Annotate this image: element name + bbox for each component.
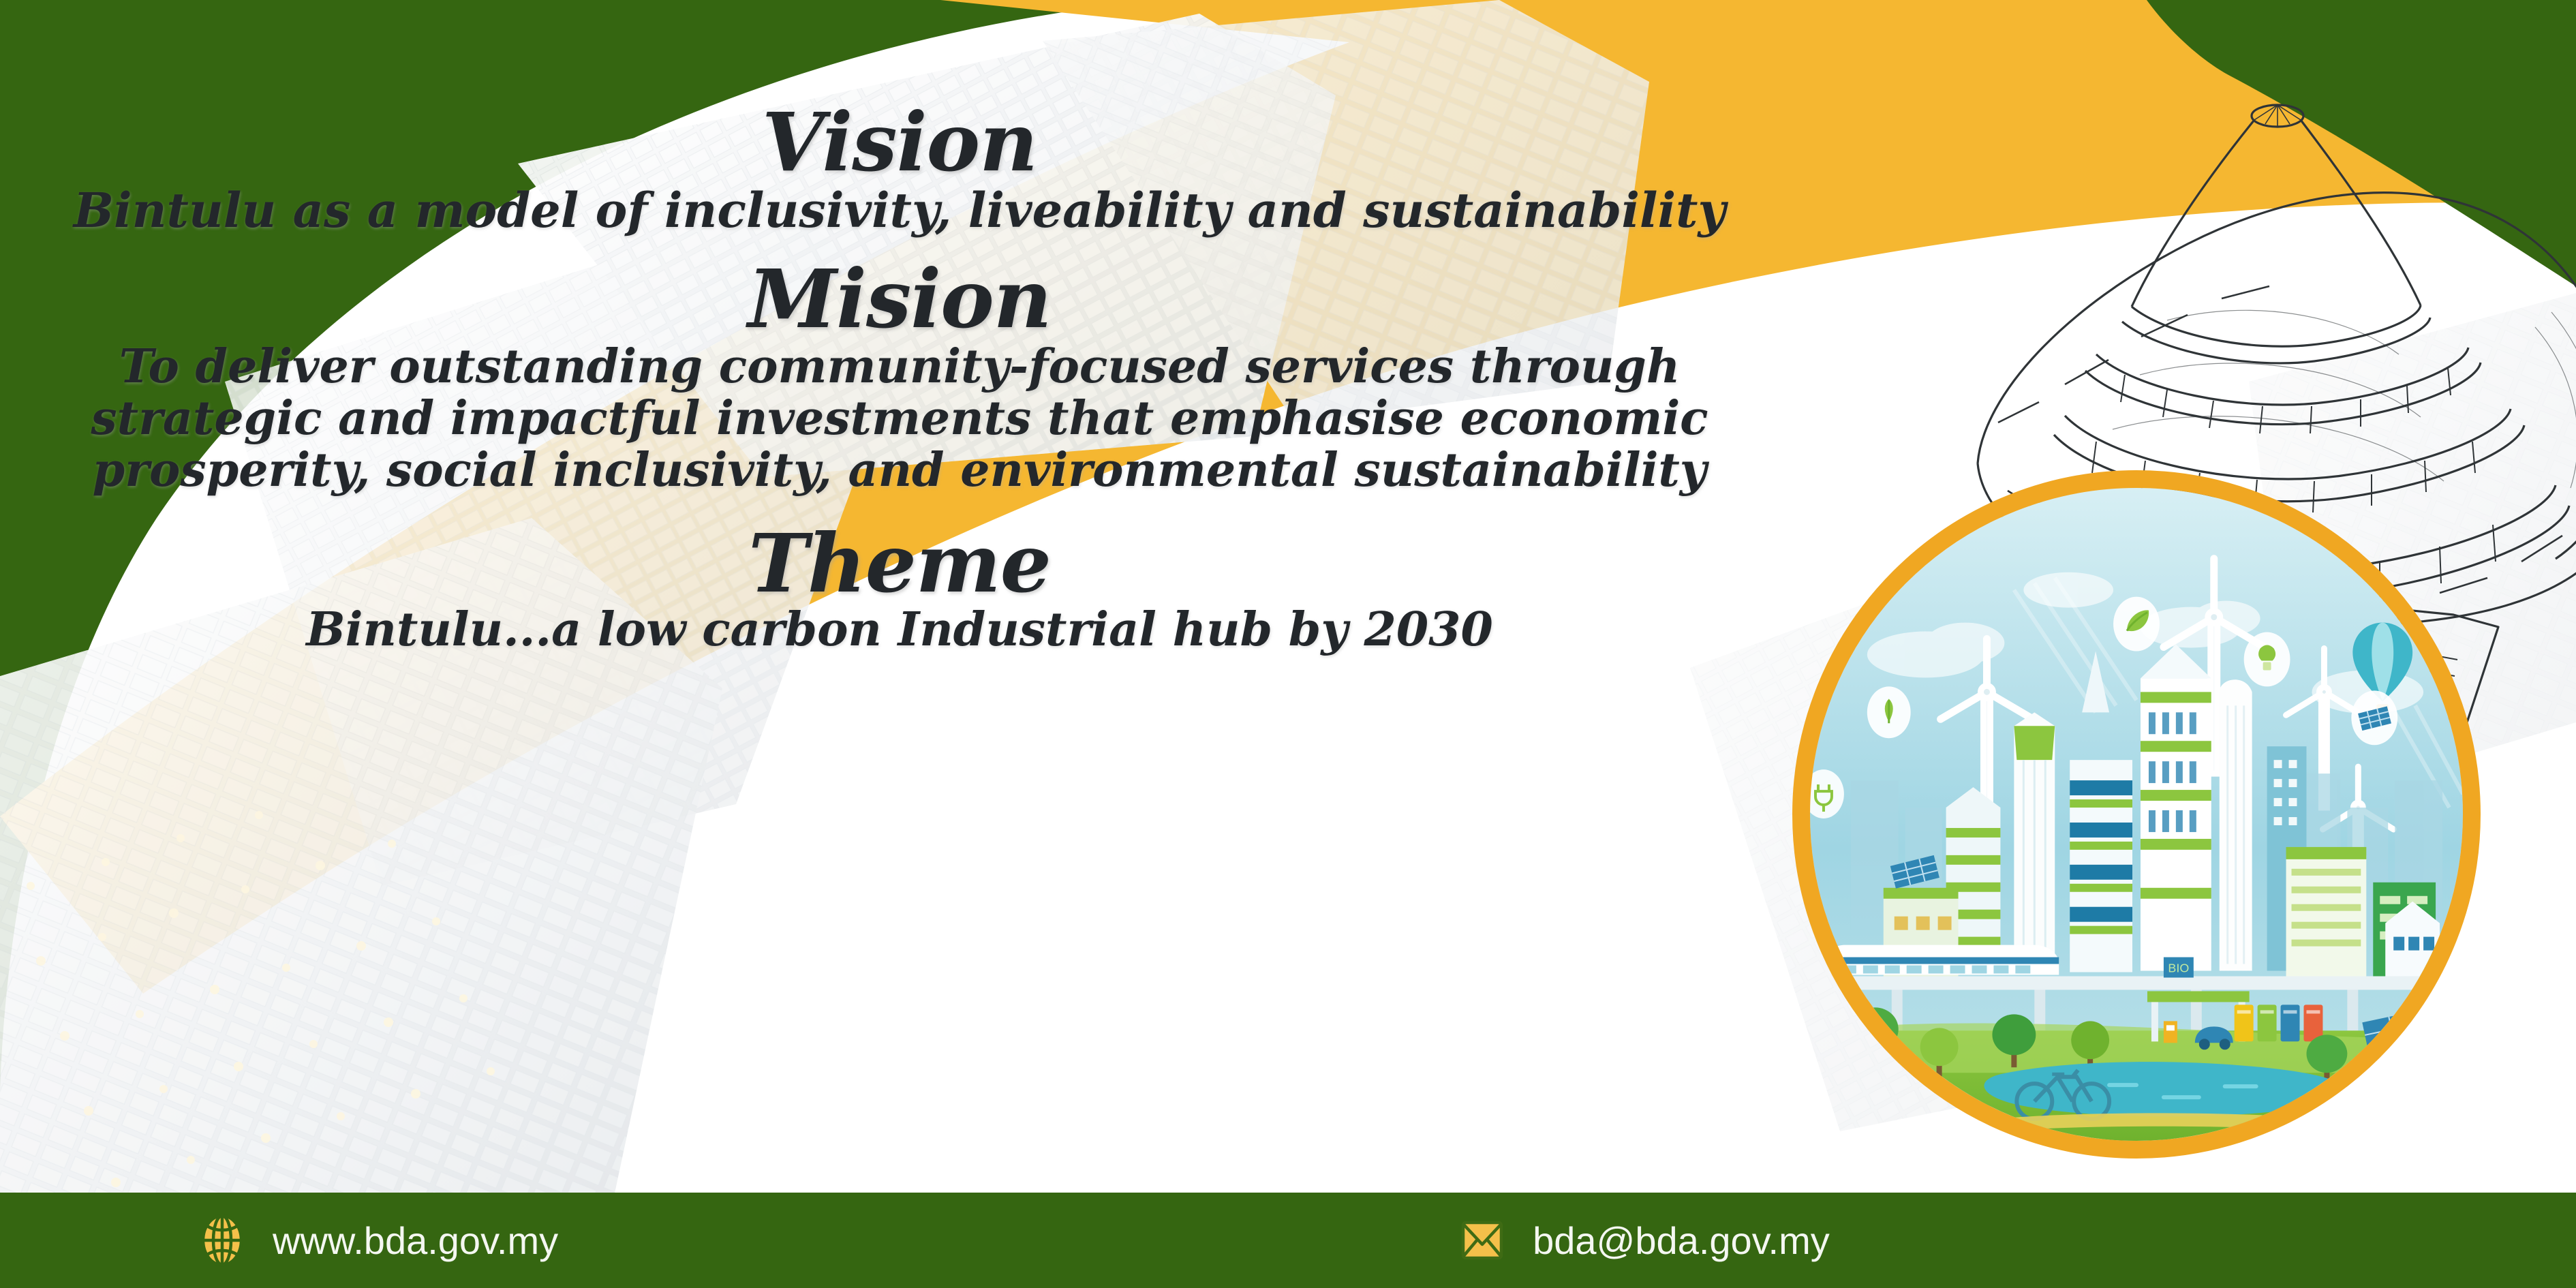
globe-icon: [198, 1213, 247, 1268]
footer-website[interactable]: www.bda.gov.my: [198, 1213, 558, 1268]
eco-city-illustration: BIO: [1810, 488, 2463, 1141]
eco-city-circle: BIO: [1792, 470, 2481, 1159]
email-label: bda@bda.gov.my: [1533, 1218, 1830, 1263]
website-label: www.bda.gov.my: [273, 1218, 558, 1263]
footer-email[interactable]: bda@bda.gov.my: [1458, 1213, 1830, 1268]
envelope-icon: [1458, 1213, 1507, 1268]
banner-root: BIO: [0, 0, 2576, 1288]
footer-bar: www.bda.gov.my bda@bda.gov.my: [0, 1193, 2576, 1288]
svg-text:BIO: BIO: [2168, 962, 2189, 975]
